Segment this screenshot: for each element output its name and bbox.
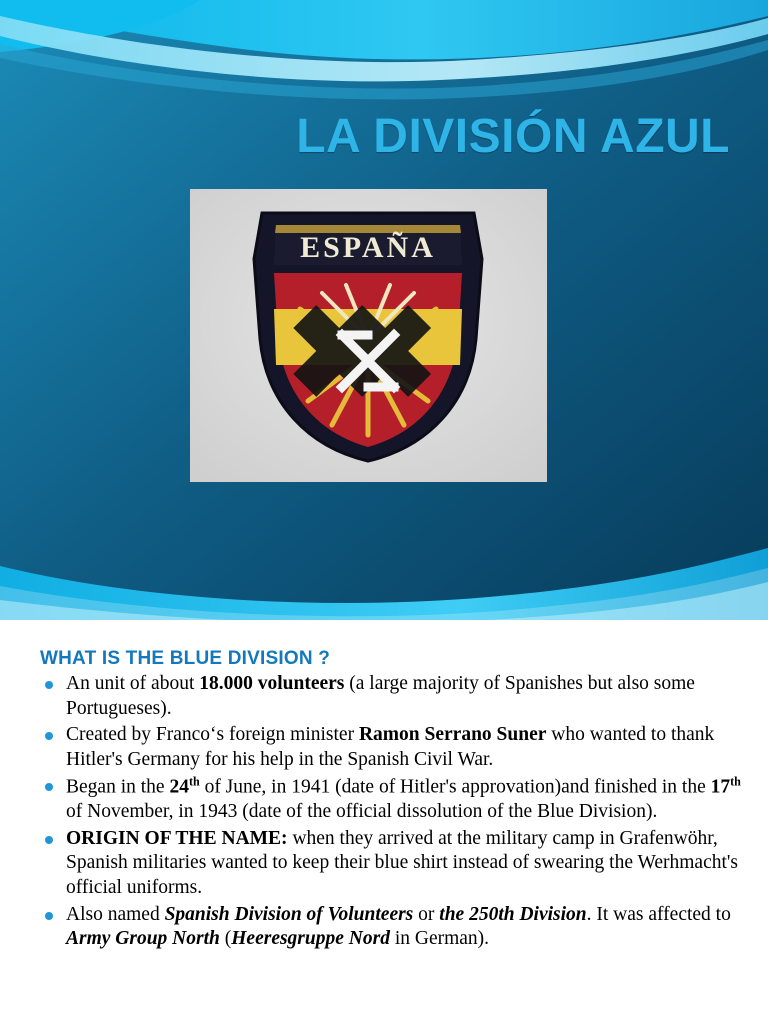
- bullet-created-by: Created by Franco‘s foreign minister Ram…: [36, 723, 746, 772]
- text-segment: 17: [711, 777, 731, 798]
- bullet-list: An unit of about 18.000 volunteers (a la…: [36, 672, 746, 954]
- slide-title-text: LA DIVISIÓN AZUL: [40, 112, 730, 162]
- text-segment: of November, in 1943 (date of the offici…: [66, 801, 657, 822]
- bullet-unit-volunteers: An unit of about 18.000 volunteers (a la…: [36, 672, 746, 721]
- text-segment: th: [730, 777, 741, 798]
- text-segment: Began in the: [66, 777, 169, 798]
- text-segment: Also named: [66, 904, 165, 925]
- slide-title: LA DIVISIÓN AZUL: [0, 0, 768, 620]
- slide-content: WHAT IS THE BLUE DIVISION ? An unit of a…: [0, 620, 768, 1024]
- section-heading: WHAT IS THE BLUE DIVISION ?: [40, 648, 330, 670]
- presentation-page: LA DIVISIÓN AZUL: [0, 0, 768, 1024]
- insignia-country-text: ESPAÑA: [300, 231, 436, 264]
- text-segment: Created by Franco‘s foreign minister: [66, 724, 359, 745]
- text-segment: 24: [169, 777, 189, 798]
- text-segment: An unit of about: [66, 673, 199, 694]
- bullet-origin-of-name: ORIGIN OF THE NAME: when they arrived at…: [36, 827, 746, 901]
- text-segment: Spanish Division of Volunteers: [165, 904, 414, 925]
- bullet-dates: Began in the 24th of June, in 1941 (date…: [36, 774, 746, 825]
- text-segment: . It was affected to: [587, 904, 731, 925]
- text-segment: the 250th Division: [439, 904, 586, 925]
- blue-division-insignia-image: ESPAÑA: [190, 189, 547, 482]
- text-segment: ORIGIN OF THE NAME:: [66, 828, 288, 849]
- text-segment: Army Group North: [66, 928, 220, 949]
- bullet-also-named: Also named Spanish Division of Volunteer…: [36, 903, 746, 952]
- text-segment: (: [220, 928, 231, 949]
- text-segment: 18.000 volunteers: [199, 673, 344, 694]
- text-segment: or: [413, 904, 439, 925]
- insignia-illustration: ESPAÑA: [190, 189, 547, 482]
- text-segment: in German).: [390, 928, 489, 949]
- text-segment: of June, in 1941 (date of Hitler's appro…: [200, 777, 711, 798]
- text-segment: Heeresgruppe Nord: [231, 928, 390, 949]
- text-segment: Ramon Serrano Suner: [359, 724, 546, 745]
- text-segment: th: [189, 777, 200, 798]
